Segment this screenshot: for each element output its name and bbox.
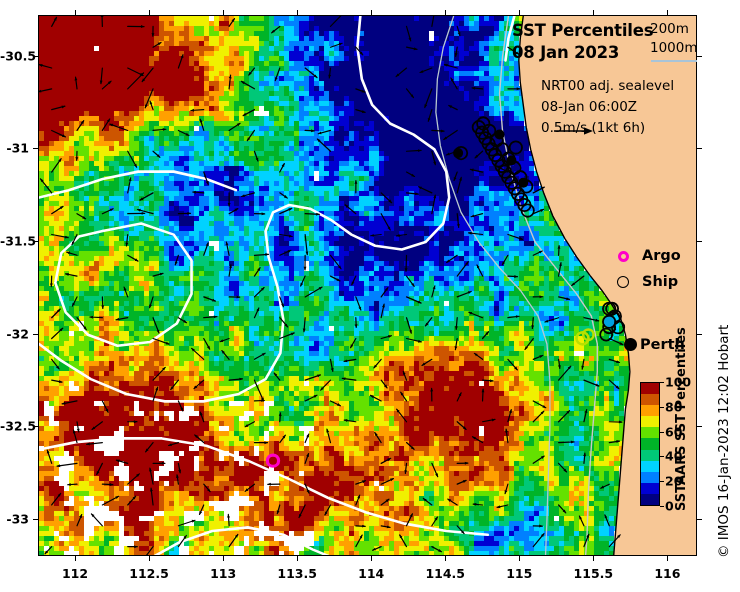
colorbar-band-3 bbox=[641, 461, 659, 472]
xtick-label: 116 bbox=[654, 566, 680, 581]
colorbar-tick bbox=[660, 407, 664, 408]
ytick-label: -32 bbox=[0, 326, 29, 341]
colorbar-tick-label: 0 bbox=[665, 499, 674, 514]
legend-row-argo: Argo bbox=[612, 243, 681, 269]
map-title-line2: 08 Jan 2023 bbox=[512, 42, 653, 64]
xtick-mark bbox=[519, 556, 520, 561]
xtick-mark-top bbox=[445, 10, 446, 15]
vector-scale-arrow-icon bbox=[553, 125, 593, 137]
legend-row-ship: Ship bbox=[612, 269, 681, 295]
colorbar-band-0 bbox=[641, 494, 659, 505]
colorbar-title: SSTAARS SST Percentiles bbox=[674, 381, 689, 511]
ytick-mark-right bbox=[697, 241, 702, 242]
xtick-mark bbox=[75, 556, 76, 561]
legend-label-ship: Ship bbox=[642, 275, 678, 290]
colorbar bbox=[640, 382, 660, 506]
xtick-mark-top bbox=[149, 10, 150, 15]
ytick-mark-right bbox=[697, 148, 702, 149]
ytick-label: -31 bbox=[0, 141, 29, 156]
xtick-mark-top bbox=[75, 10, 76, 15]
colorbar-band-7 bbox=[641, 416, 659, 427]
credit-text: © IMOS 16-Jan-2023 12:02 Hobart bbox=[716, 325, 732, 558]
xtick-label: 114.5 bbox=[425, 566, 465, 581]
colorbar-band-9 bbox=[641, 394, 659, 405]
xtick-label: 113.5 bbox=[277, 566, 317, 581]
colorbar-band-4 bbox=[641, 450, 659, 461]
colorbar-band-8 bbox=[641, 405, 659, 416]
depth-200-row: 200m bbox=[650, 20, 698, 39]
xtick-mark-top bbox=[667, 10, 668, 15]
ytick-label: -32.5 bbox=[0, 419, 29, 434]
depth-1000-row: 1000m bbox=[650, 39, 698, 58]
xtick-label: 113 bbox=[210, 566, 236, 581]
xtick-mark bbox=[371, 556, 372, 561]
xtick-mark-top bbox=[297, 10, 298, 15]
figure-root: 112112.5113113.5114114.5115115.5116-30.5… bbox=[0, 0, 740, 592]
colorbar-tick bbox=[660, 481, 664, 482]
ytick-label: -30.5 bbox=[0, 48, 29, 63]
xtick-mark-top bbox=[593, 10, 594, 15]
depth-1000-label: 1000m bbox=[650, 40, 698, 56]
ship-ring-icon bbox=[612, 276, 634, 288]
map-title-line1: SST Percentiles bbox=[512, 20, 653, 42]
ytick-mark-right bbox=[697, 519, 702, 520]
colorbar-band-2 bbox=[641, 472, 659, 483]
depth-200-label: 200m bbox=[650, 21, 689, 37]
xtick-mark bbox=[223, 556, 224, 561]
colorbar-tick bbox=[660, 432, 664, 433]
legend-label-argo: Argo bbox=[642, 249, 681, 264]
ytick-mark-right bbox=[697, 56, 702, 57]
ytick-mark bbox=[33, 334, 38, 335]
xtick-label: 112 bbox=[62, 566, 88, 581]
argo-ring-icon bbox=[612, 251, 634, 262]
xtick-mark-top bbox=[223, 10, 224, 15]
colorbar-tick bbox=[660, 382, 664, 383]
xtick-mark-top bbox=[371, 10, 372, 15]
marker-legend: Argo Ship bbox=[612, 243, 681, 295]
xtick-label: 112.5 bbox=[129, 566, 169, 581]
xtick-label: 114 bbox=[358, 566, 384, 581]
xtick-label: 115 bbox=[506, 566, 532, 581]
xtick-mark-top bbox=[519, 10, 520, 15]
depth-1000-contour-line-icon bbox=[651, 60, 697, 62]
xtick-mark bbox=[593, 556, 594, 561]
info-line-product: NRT00 adj. sealevel bbox=[541, 76, 674, 97]
colorbar-tick bbox=[660, 456, 664, 457]
xtick-mark bbox=[297, 556, 298, 561]
colorbar-band-5 bbox=[641, 438, 659, 449]
ytick-mark-right bbox=[697, 334, 702, 335]
colorbar-band-10 bbox=[641, 383, 659, 394]
xtick-mark bbox=[149, 556, 150, 561]
ytick-mark bbox=[33, 148, 38, 149]
depth-contour-legend: 200m 1000m bbox=[650, 20, 698, 58]
ytick-label: -33 bbox=[0, 511, 29, 526]
ytick-label: -31.5 bbox=[0, 234, 29, 249]
colorbar-band-1 bbox=[641, 483, 659, 494]
colorbar-band-6 bbox=[641, 427, 659, 438]
ytick-mark bbox=[33, 519, 38, 520]
xtick-label: 115.5 bbox=[574, 566, 614, 581]
xtick-mark bbox=[445, 556, 446, 561]
xtick-mark bbox=[667, 556, 668, 561]
map-title: SST Percentiles 08 Jan 2023 bbox=[512, 20, 653, 64]
city-dot-icon bbox=[624, 338, 637, 351]
ytick-mark-right bbox=[697, 426, 702, 427]
colorbar-tick bbox=[660, 506, 664, 507]
info-line-timestamp: 08-Jan 06:00Z bbox=[541, 97, 674, 118]
